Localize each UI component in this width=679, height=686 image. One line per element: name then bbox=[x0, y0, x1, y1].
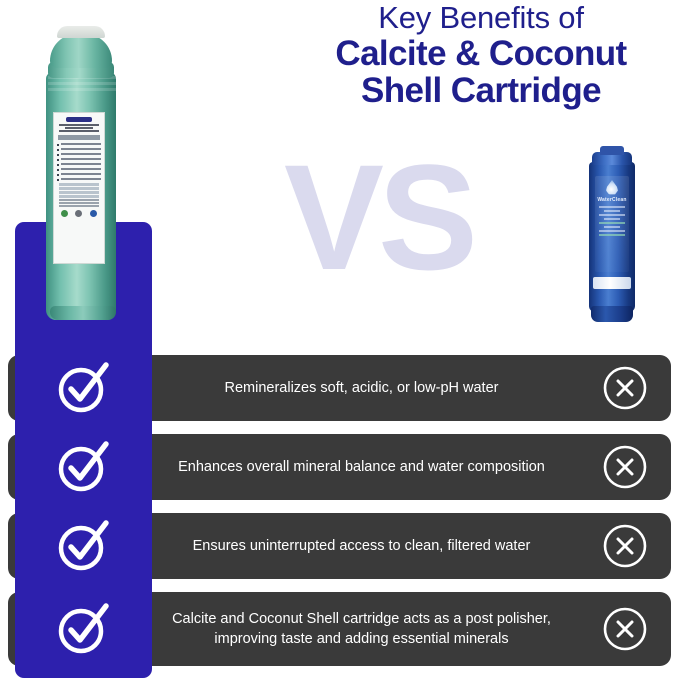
row-benefit-text: Remineralizes soft, acidic, or low-pH wa… bbox=[156, 378, 579, 398]
label-brand-logo bbox=[66, 117, 92, 122]
certification-seal-icon bbox=[90, 210, 97, 217]
label-spec-row bbox=[59, 195, 99, 198]
certification-seal-icon bbox=[75, 210, 82, 217]
label-title-line bbox=[59, 130, 99, 132]
row-benefit-text: Enhances overall mineral balance and wat… bbox=[156, 457, 579, 477]
label-bullet bbox=[57, 153, 101, 156]
x-circle-icon bbox=[601, 605, 649, 653]
cartridge-ridge bbox=[48, 82, 118, 85]
competitor-white-band bbox=[593, 277, 631, 289]
row-negative-cell bbox=[579, 364, 671, 412]
calcite-coconut-cartridge-image bbox=[44, 26, 118, 332]
competitor-base bbox=[591, 306, 633, 322]
label-bullet bbox=[57, 163, 101, 166]
x-circle-icon bbox=[601, 522, 649, 570]
bullet-dot-icon bbox=[57, 154, 59, 156]
label-footer-line bbox=[59, 205, 99, 207]
title-line-3: Shell Cartridge bbox=[285, 72, 677, 109]
label-text-line bbox=[599, 214, 625, 216]
label-title-line bbox=[65, 127, 93, 129]
bullet-dot-icon bbox=[57, 144, 59, 146]
label-bullet bbox=[57, 148, 101, 151]
label-bullet bbox=[57, 173, 101, 176]
certification-seal-icon bbox=[61, 210, 68, 217]
label-text-line bbox=[599, 234, 625, 236]
row-negative-cell bbox=[579, 443, 671, 491]
cartridge-cap bbox=[57, 26, 105, 38]
competitor-top-cap bbox=[600, 146, 624, 155]
label-bullet bbox=[57, 178, 101, 181]
cartridge-ridge bbox=[48, 88, 118, 91]
water-drop-icon bbox=[606, 180, 619, 195]
check-slot bbox=[15, 355, 152, 421]
label-certification-seals bbox=[57, 210, 101, 217]
bullet-dot-icon bbox=[57, 159, 59, 161]
check-circle-icon bbox=[54, 359, 114, 417]
bullet-dot-icon bbox=[57, 179, 59, 181]
label-text-line bbox=[604, 226, 620, 228]
label-section-band bbox=[58, 135, 100, 140]
label-spec-row bbox=[59, 191, 99, 194]
label-text-line bbox=[599, 230, 625, 232]
competitor-product-label: WaterClean bbox=[595, 176, 629, 272]
row-negative-cell bbox=[579, 605, 671, 653]
cartridge-base bbox=[50, 306, 116, 320]
title-line-1: Key Benefits of bbox=[285, 2, 677, 35]
row-negative-cell bbox=[579, 522, 671, 570]
row-benefit-text: Ensures uninterrupted access to clean, f… bbox=[156, 536, 579, 556]
label-bullet bbox=[57, 168, 101, 171]
check-slot bbox=[15, 513, 152, 579]
bullet-dot-icon bbox=[57, 174, 59, 176]
check-slot bbox=[15, 434, 152, 500]
x-circle-icon bbox=[601, 364, 649, 412]
positive-check-icons bbox=[15, 355, 152, 679]
label-text-line bbox=[599, 206, 625, 208]
bullet-dot-icon bbox=[57, 164, 59, 166]
title-line-2: Calcite & Coconut bbox=[285, 35, 677, 72]
cartridge-product-label bbox=[53, 112, 105, 264]
label-bullet bbox=[57, 143, 101, 146]
row-benefit-text: Calcite and Coconut Shell cartridge acts… bbox=[156, 609, 579, 649]
cartridge-shoulder bbox=[50, 34, 112, 68]
label-text-line bbox=[604, 218, 620, 220]
check-circle-icon bbox=[54, 438, 114, 496]
competitor-cartridge-image: WaterClean bbox=[589, 146, 635, 322]
check-slot bbox=[15, 592, 152, 666]
bullet-dot-icon bbox=[57, 169, 59, 171]
check-circle-icon bbox=[54, 517, 114, 575]
page-title: Key Benefits of Calcite & Coconut Shell … bbox=[285, 2, 677, 109]
label-spec-row bbox=[59, 183, 99, 186]
label-title-line bbox=[59, 124, 99, 126]
x-circle-icon bbox=[601, 443, 649, 491]
bullet-dot-icon bbox=[57, 149, 59, 151]
check-circle-icon bbox=[54, 600, 114, 658]
label-bullet bbox=[57, 158, 101, 161]
label-footer-line bbox=[59, 199, 99, 201]
versus-watermark: VS bbox=[258, 142, 498, 292]
competitor-brand-name: WaterClean bbox=[595, 198, 629, 203]
label-spec-row bbox=[59, 187, 99, 190]
label-footer-line bbox=[59, 202, 99, 204]
label-text-line bbox=[604, 210, 620, 212]
label-text-line bbox=[599, 222, 625, 224]
